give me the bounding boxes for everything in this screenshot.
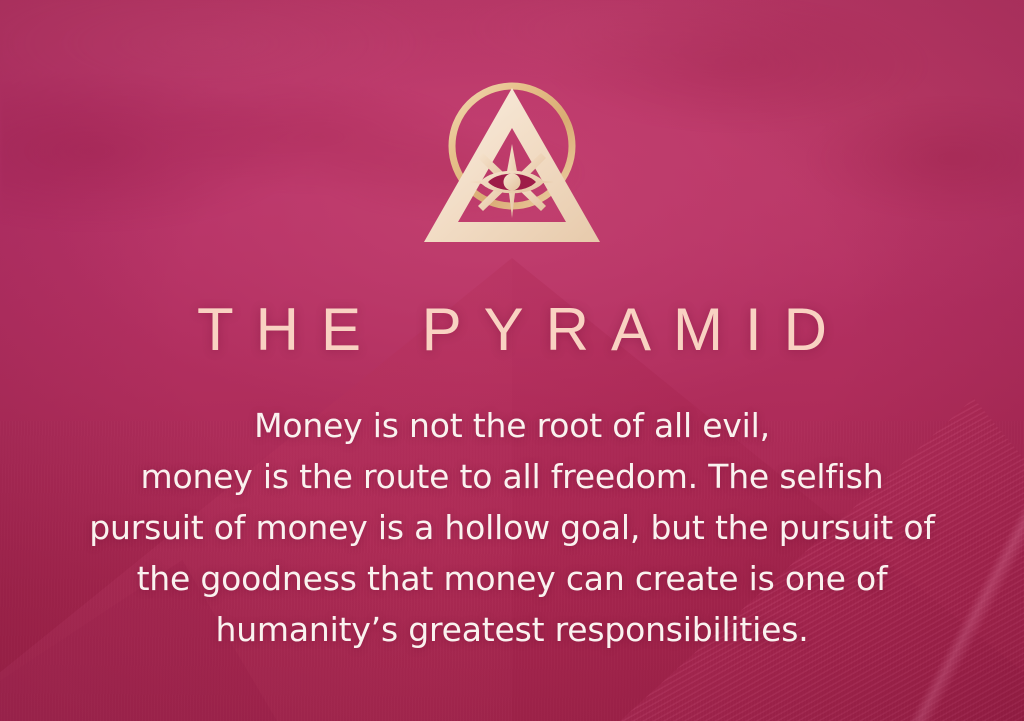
quote-line-4: the goodness that money can create is on… xyxy=(62,553,962,604)
pyramid-eye-in-circle-icon xyxy=(412,66,612,266)
hero-content: THE PYRAMID Money is not the root of all… xyxy=(0,0,1024,721)
hero-quote: Money is not the root of all evil, money… xyxy=(62,400,962,655)
quote-line-5: humanity’s greatest responsibilities. xyxy=(62,604,962,655)
page-title: THE PYRAMID xyxy=(175,300,849,360)
hero-banner: THE PYRAMID Money is not the root of all… xyxy=(0,0,1024,721)
all-seeing-eye-icon xyxy=(480,171,544,194)
quote-line-2: money is the route to all freedom. The s… xyxy=(62,451,962,502)
quote-line-3: pursuit of money is a hollow goal, but t… xyxy=(62,502,962,553)
quote-line-1: Money is not the root of all evil, xyxy=(62,400,962,451)
